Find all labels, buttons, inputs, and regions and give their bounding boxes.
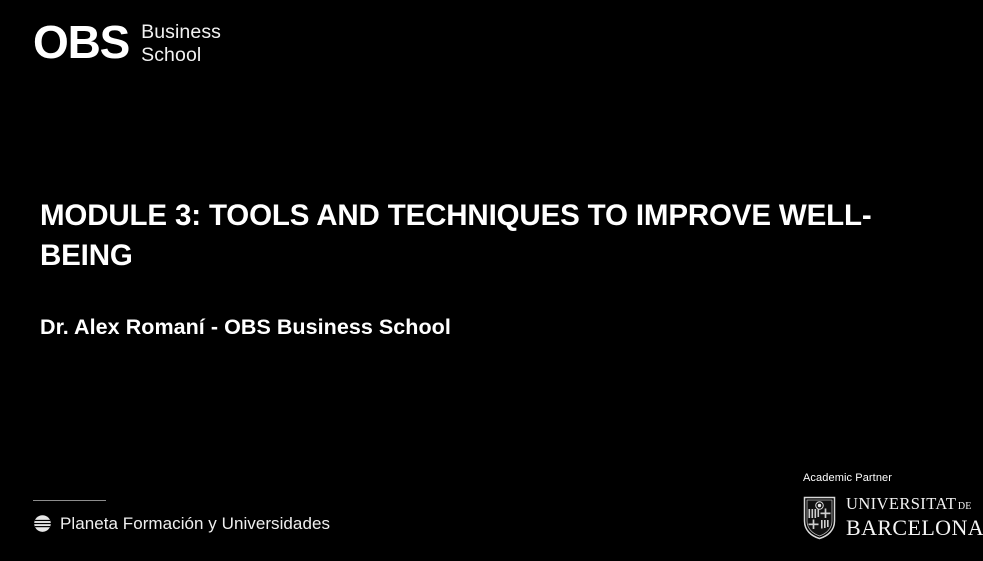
ub-wordmark-line1: UNIVERSITATDE bbox=[846, 495, 983, 516]
university-shield-icon bbox=[803, 496, 836, 540]
academic-partner-block: Academic Partner bbox=[803, 471, 963, 540]
presentation-slide: OBS Business School MODULE 3: TOOLS AND … bbox=[0, 0, 983, 561]
ub-wordmark-barcelona: BARCELONA bbox=[846, 516, 983, 540]
slide-subtitle: Dr. Alex Romaní - OBS Business School bbox=[40, 276, 950, 342]
obs-logo-wordmark: Business School bbox=[141, 21, 221, 66]
universitat-barcelona-logo: UNIVERSITATDE BARCELONA bbox=[803, 495, 963, 540]
planeta-label: Planeta Formación y Universidades bbox=[60, 514, 330, 533]
planeta-logo: Planeta Formación y Universidades bbox=[33, 514, 330, 533]
universitat-barcelona-wordmark: UNIVERSITATDE BARCELONA bbox=[846, 495, 983, 540]
obs-logo: OBS Business School bbox=[33, 18, 221, 66]
title-block: MODULE 3: TOOLS AND TECHNIQUES TO IMPROV… bbox=[40, 196, 950, 342]
academic-partner-label: Academic Partner bbox=[803, 471, 963, 485]
planeta-footer: Planeta Formación y Universidades bbox=[33, 500, 330, 533]
slide-title: MODULE 3: TOOLS AND TECHNIQUES TO IMPROV… bbox=[40, 196, 950, 276]
ub-wordmark-universitat: UNIVERSITAT bbox=[846, 495, 956, 513]
planeta-divider bbox=[33, 500, 106, 501]
planet-globe-icon bbox=[33, 514, 52, 533]
obs-logo-word-line2: School bbox=[141, 44, 221, 67]
obs-logo-mark: OBS bbox=[33, 18, 129, 66]
ub-wordmark-de: DE bbox=[958, 498, 972, 516]
obs-logo-word-line1: Business bbox=[141, 21, 221, 44]
